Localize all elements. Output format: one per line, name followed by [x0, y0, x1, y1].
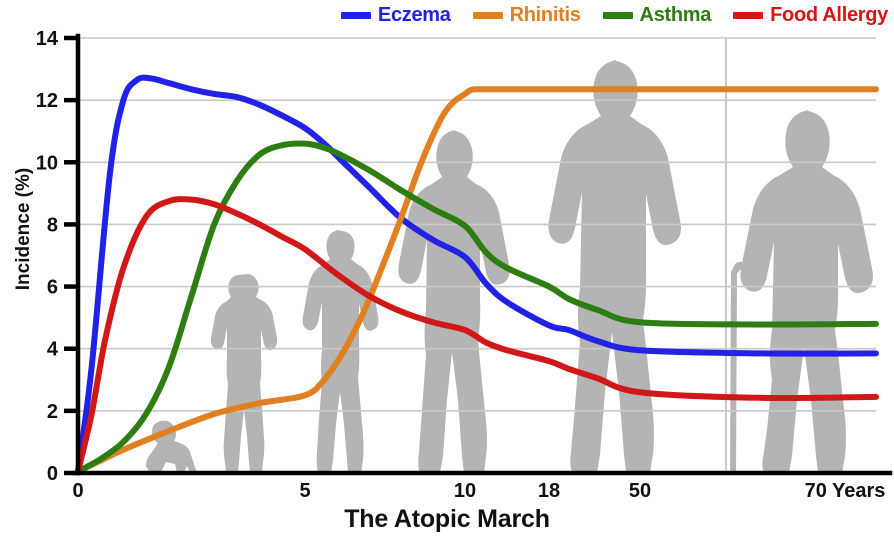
chart-root: EczemaRhinitisAsthmaFood Allergy Inciden… — [0, 0, 894, 542]
y-tick-label: 12 — [36, 90, 58, 112]
silhouette-toddler — [211, 274, 277, 473]
y-tick-label: 8 — [47, 214, 58, 236]
y-ticks-group: 02468101214 — [36, 28, 80, 485]
x-tick-label: 0 — [72, 480, 83, 502]
y-tick-label: 0 — [47, 463, 58, 485]
silhouette-elderly — [740, 110, 873, 473]
y-tick-label: 10 — [36, 152, 58, 174]
y-tick-label: 2 — [47, 401, 58, 423]
y-tick-label: 6 — [47, 277, 58, 299]
x-ticks-group: 0510185070 Years — [72, 480, 885, 502]
plot-area: 02468101214 0510185070 Years — [0, 0, 894, 542]
x-tick-label: 5 — [299, 480, 310, 502]
y-tick-label: 4 — [47, 339, 59, 361]
x-tick-label: 18 — [538, 480, 560, 502]
x-tick-label: 70 Years — [805, 480, 886, 502]
x-tick-label: 50 — [629, 480, 651, 502]
y-tick-label: 14 — [36, 28, 59, 50]
x-tick-label: 10 — [454, 480, 476, 502]
silhouette-cane — [730, 262, 744, 473]
